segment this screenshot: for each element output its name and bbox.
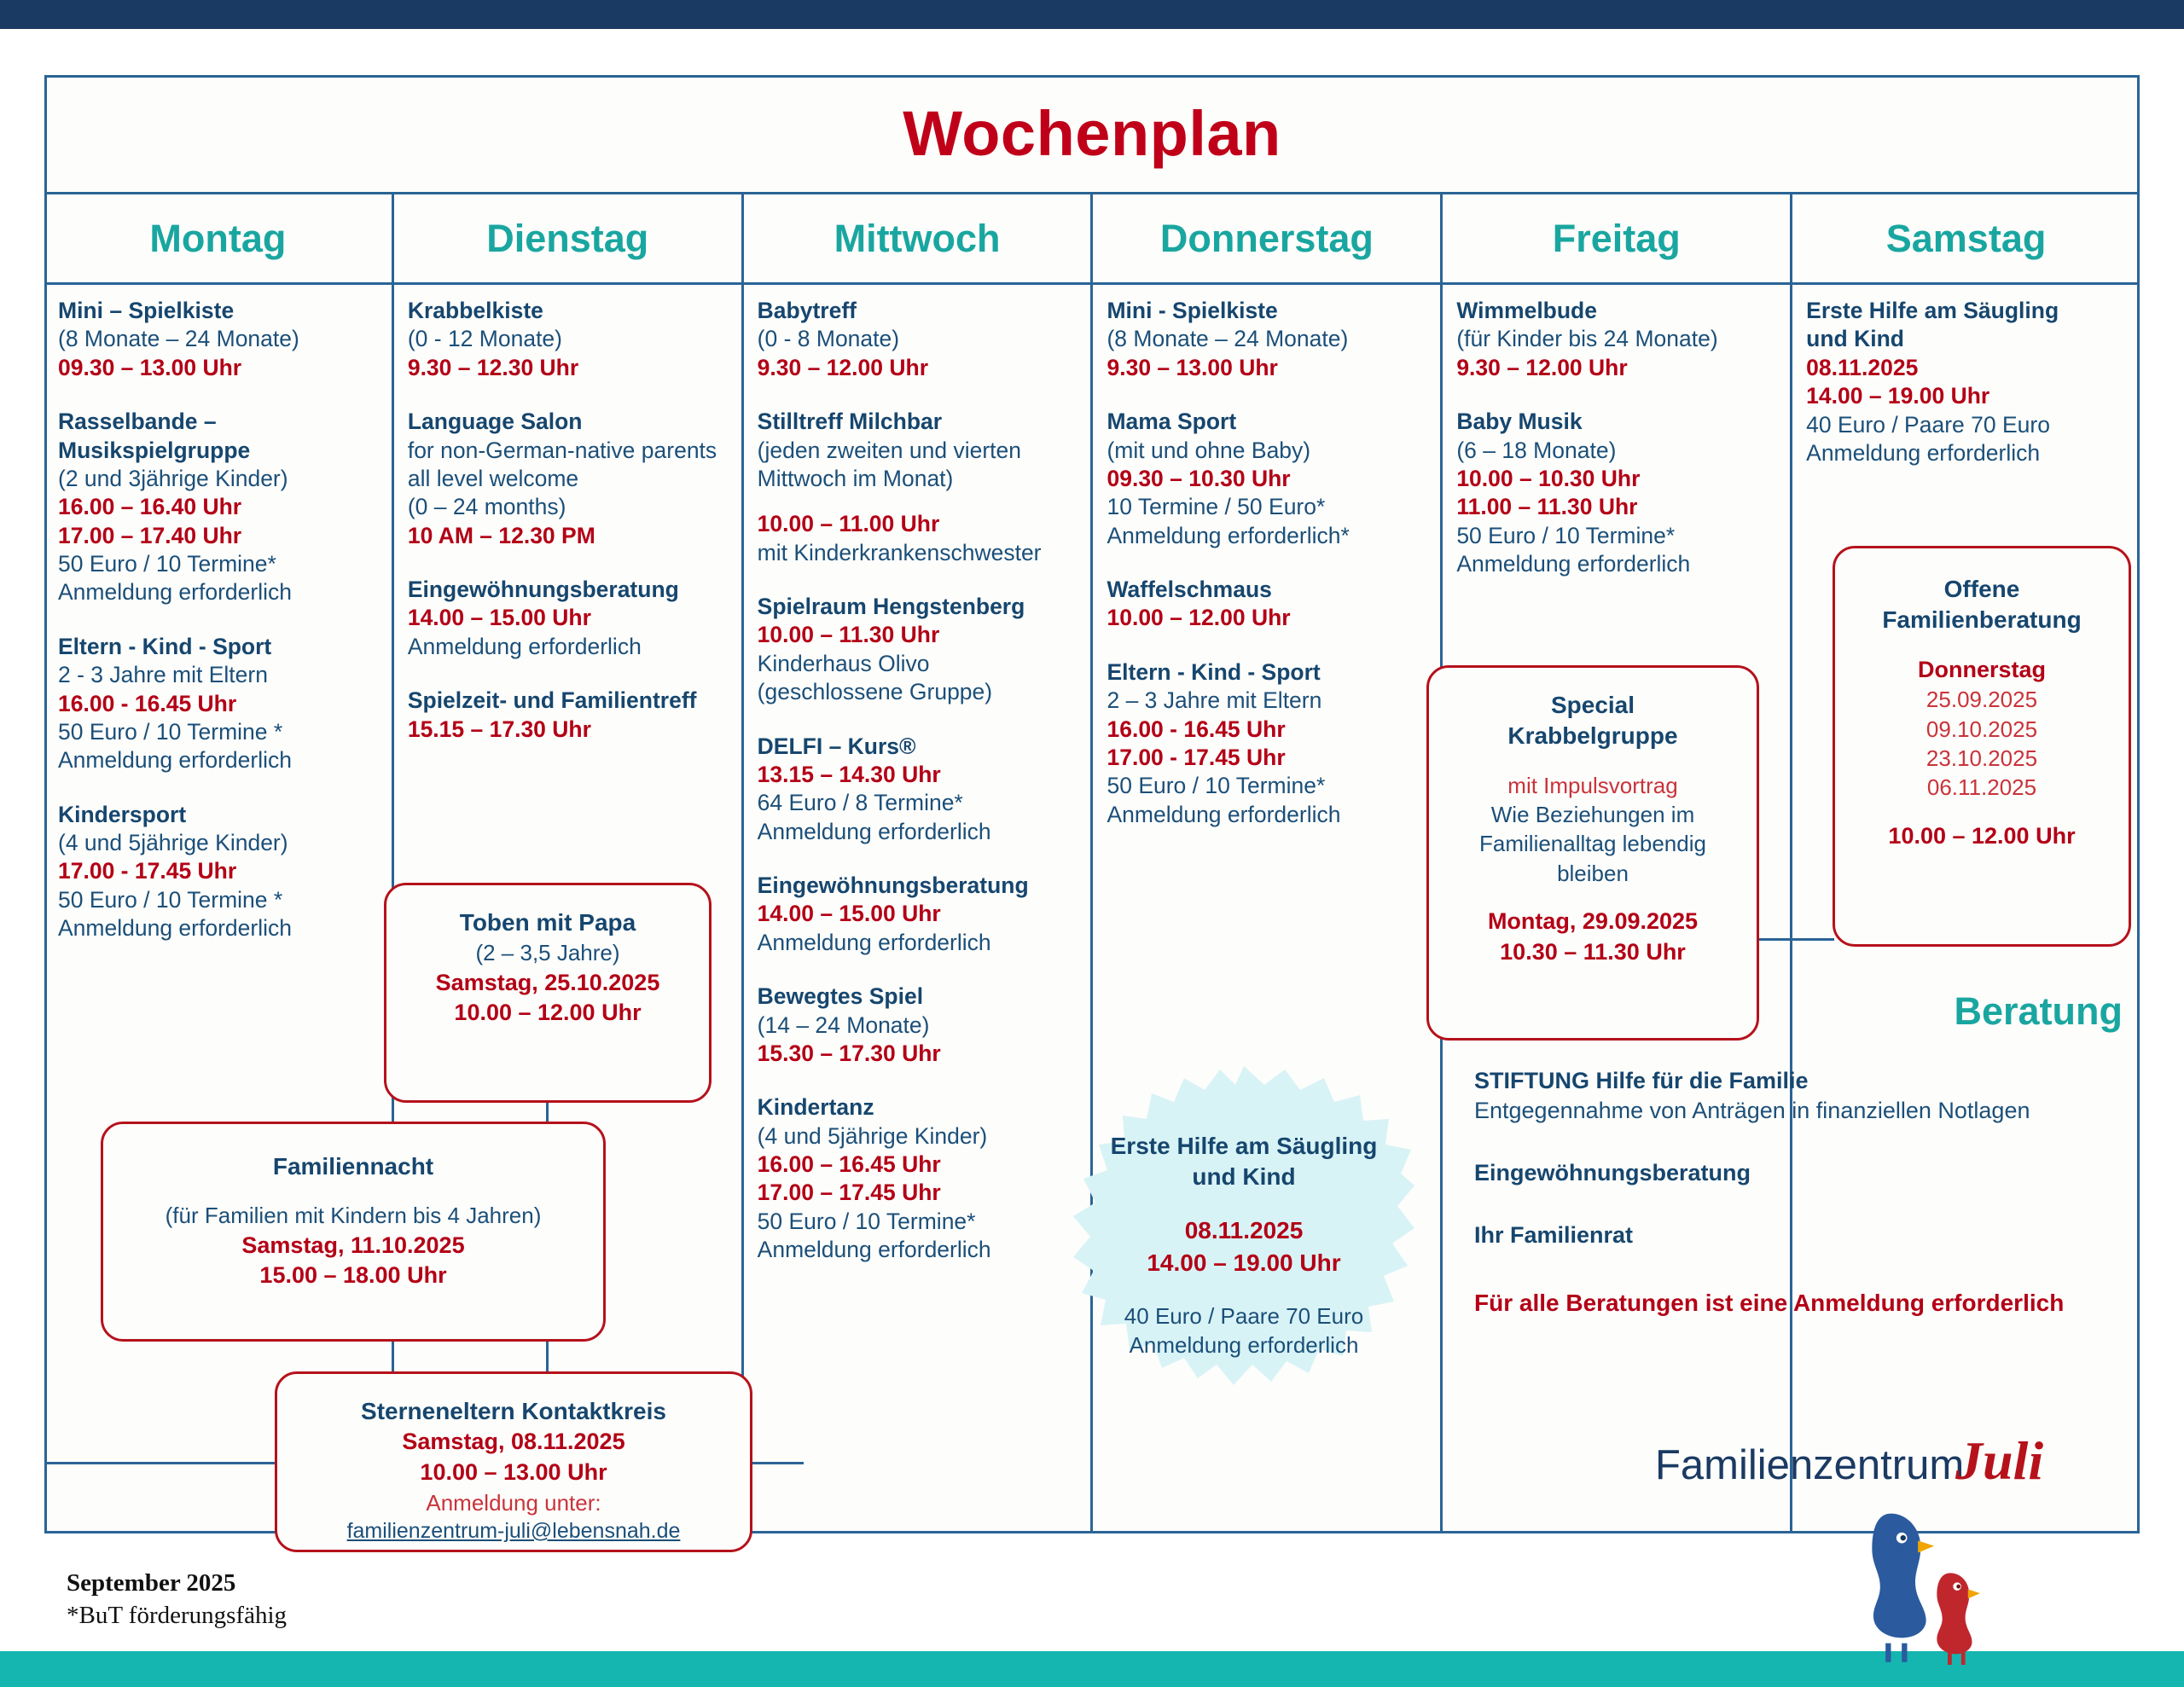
event-entry: Rasselbande –Musikspielgruppe(2 und 3jäh… — [58, 408, 378, 607]
event-title: Eingewöhnungsberatung — [408, 576, 728, 604]
title-band: Wochenplan — [44, 75, 2140, 194]
spacer — [1474, 1188, 2123, 1220]
event-detail: 50 Euro / 10 Termine* — [1107, 772, 1426, 800]
spacer — [758, 493, 1077, 510]
event-detail: (0 - 8 Monate) — [758, 325, 1077, 353]
beratung-item-heading: STIFTUNG Hilfe für die Familie — [1474, 1066, 2123, 1096]
event-entry: Kindersport (4 und 5jährige Kinder)17.00… — [58, 801, 378, 943]
event-entry: Wimmelbude(für Kinder bis 24 Monate)9.30… — [1456, 297, 1776, 382]
event-detail: (mit und ohne Baby) — [1107, 437, 1426, 465]
event-detail: (14 – 24 Monate) — [758, 1012, 1077, 1040]
starburst-erste-hilfe: Erste Hilfe am Säugling und Kind 08.11.2… — [1073, 1066, 1414, 1424]
event-time: 15.15 – 17.30 Uhr — [408, 716, 728, 744]
event-detail: Anmeldung erforderlich — [758, 818, 1077, 846]
burst-heading-line1: Erste Hilfe am Säugling — [1111, 1131, 1378, 1162]
event-detail: Anmeldung erforderlich* — [1107, 522, 1426, 550]
event-detail: Anmeldung erforderlich — [758, 929, 1077, 957]
event-detail: 50 Euro / 10 Termine * — [58, 718, 378, 746]
event-title: Babytreff — [758, 297, 1077, 325]
callout-special-krabbelgruppe: Special Krabbelgruppe mit Impulsvortrag … — [1426, 665, 1759, 1041]
event-title: Eltern - Kind - Sport — [1107, 658, 1426, 687]
callout-time: 15.00 – 18.00 Uhr — [119, 1261, 588, 1291]
event-time: 9.30 – 12.00 Uhr — [758, 354, 1077, 382]
event-detail: 2 - 3 Jahre mit Eltern — [58, 661, 378, 689]
callout-subtitle: (für Familien mit Kindern bis 4 Jahren) — [119, 1201, 588, 1230]
day-header-donnerstag: Donnerstag — [1093, 194, 1443, 282]
event-time: 9.30 – 12.30 Uhr — [408, 354, 728, 382]
event-detail: Anmeldung erforderlich — [1456, 550, 1776, 578]
event-time: 15.30 – 17.30 Uhr — [758, 1040, 1077, 1068]
event-time: 09.30 – 13.00 Uhr — [58, 354, 378, 382]
connector-famnacht — [546, 1342, 549, 1374]
event-title: DELFI – Kurs® — [758, 733, 1077, 761]
callout-day: Donnerstag — [1847, 655, 2117, 686]
event-title: Krabbelkiste — [408, 297, 728, 325]
event-detail: (0 – 24 months) — [408, 493, 728, 521]
day-label: Montag — [149, 217, 286, 261]
event-time: 09.30 – 10.30 Uhr — [1107, 465, 1426, 493]
callout-sterneneltern-kontaktkreis: Sterneneltern Kontaktkreis Samstag, 08.1… — [275, 1371, 752, 1552]
event-entry: Kindertanz(4 und 5jährige Kinder)16.00 –… — [758, 1093, 1077, 1264]
callout-heading: Sterneneltern Kontaktkreis — [291, 1396, 736, 1427]
callout-date-4: 06.11.2025 — [1847, 773, 2117, 802]
callout-email-link[interactable]: familienzentrum-juli@lebensnah.de — [291, 1517, 736, 1545]
callout-familiennacht: Familiennacht (für Familien mit Kindern … — [101, 1122, 606, 1342]
bird-icon — [1834, 1503, 1996, 1665]
callout-date-2: 09.10.2025 — [1847, 715, 2117, 744]
event-detail: (geschlossene Gruppe) — [758, 678, 1077, 706]
event-detail: (2 und 3jährige Kinder) — [58, 465, 378, 493]
event-time: 13.15 – 14.30 Uhr — [758, 761, 1077, 789]
event-entry: Krabbelkiste(0 - 12 Monate)9.30 – 12.30 … — [408, 297, 728, 382]
spacer — [1847, 803, 2117, 821]
event-time: 9.30 – 13.00 Uhr — [1107, 354, 1426, 382]
callout-accent: mit Impulsvortrag — [1443, 771, 1743, 800]
column-mittwoch: Babytreff(0 - 8 Monate)9.30 – 12.00 UhrS… — [744, 285, 1094, 1533]
spacer — [1847, 636, 2117, 655]
event-detail: (für Kinder bis 24 Monate) — [1456, 325, 1776, 353]
day-header-samstag: Samstag — [1792, 194, 2140, 282]
callout-body-line1: Wie Beziehungen im — [1443, 800, 1743, 829]
event-detail: (jeden zweiten und vierten — [758, 437, 1077, 465]
event-time: 14.00 – 19.00 Uhr — [1806, 382, 2126, 410]
event-detail: Anmeldung erforderlich — [58, 914, 378, 942]
callout-toben-mit-papa: Toben mit Papa (2 – 3,5 Jahre) Samstag, … — [384, 883, 712, 1103]
event-time: 17.00 - 17.45 Uhr — [58, 857, 378, 885]
starburst-content: Erste Hilfe am Säugling und Kind 08.11.2… — [1073, 1066, 1414, 1424]
day-label: Freitag — [1553, 217, 1681, 261]
beratung-item: Ihr Familienrat — [1474, 1220, 2123, 1250]
connector-sternen-left — [44, 1462, 276, 1464]
event-title: Mini - Spielkiste — [1107, 297, 1426, 325]
event-entry: Mini - Spielkiste(8 Monate – 24 Monate)9… — [1107, 297, 1426, 382]
event-detail: mit Kinderkrankenschwester — [758, 539, 1077, 567]
event-entry: Eltern - Kind - Sport2 - 3 Jahre mit Elt… — [58, 633, 378, 775]
callout-heading-line2: Familienberatung — [1847, 605, 2117, 635]
event-detail: 50 Euro / 10 Termine* — [58, 550, 378, 578]
event-detail: Anmeldung erforderlich — [1107, 801, 1426, 829]
event-time: 16.00 – 16.40 Uhr — [58, 493, 378, 521]
event-detail: Mittwoch im Monat) — [758, 465, 1077, 493]
event-time: 10.00 – 11.00 Uhr — [758, 510, 1077, 538]
event-title: Bewegtes Spiel — [758, 983, 1077, 1011]
event-detail: (6 – 18 Monate) — [1456, 437, 1776, 465]
event-title: Wimmelbude — [1456, 297, 1776, 325]
callout-date: Samstag, 25.10.2025 — [398, 968, 697, 999]
event-time: 11.00 – 11.30 Uhr — [1456, 493, 1776, 521]
callout-heading-line1: Offene — [1847, 574, 2117, 605]
event-time: 10.00 – 12.00 Uhr — [1107, 604, 1426, 632]
callout-heading-line2: Krabbelgruppe — [1443, 721, 1743, 751]
event-title: Eingewöhnungsberatung — [758, 872, 1077, 900]
event-detail: 50 Euro / 10 Termine* — [1456, 522, 1776, 550]
event-entry: Mama Sport(mit und ohne Baby)09.30 – 10.… — [1107, 408, 1426, 550]
event-detail: Anmeldung erforderlich — [408, 633, 728, 661]
callout-time: 10.00 – 12.00 Uhr — [1847, 821, 2117, 852]
event-detail: Anmeldung erforderlich — [58, 746, 378, 774]
callout-heading-line1: Special — [1443, 690, 1743, 721]
event-entry: Spielzeit- und Familientreff15.15 – 17.3… — [408, 687, 728, 744]
day-header-freitag: Freitag — [1443, 194, 1792, 282]
burst-price: 40 Euro / Paare 70 Euro — [1124, 1301, 1363, 1330]
callout-body-line3: bleiben — [1443, 859, 1743, 888]
event-time: 14.00 – 15.00 Uhr — [758, 900, 1077, 928]
event-title-line2: und Kind — [1806, 325, 2126, 353]
beratung-item: STIFTUNG Hilfe für die Familie Entgegenn… — [1474, 1066, 2123, 1126]
event-detail: (8 Monate – 24 Monate) — [58, 325, 378, 353]
event-detail: 2 – 3 Jahre mit Eltern — [1107, 687, 1426, 715]
event-title: Mini – Spielkiste — [58, 297, 378, 325]
event-entry: Baby Musik(6 – 18 Monate)10.00 – 10.30 U… — [1456, 408, 1776, 578]
event-detail: 50 Euro / 10 Termine* — [758, 1208, 1077, 1236]
event-detail: (0 - 12 Monate) — [408, 325, 728, 353]
event-detail: 10 Termine / 50 Euro* — [1107, 493, 1426, 521]
callout-date-3: 23.10.2025 — [1847, 744, 2117, 773]
footer-note: *BuT förderungsfähig — [67, 1600, 287, 1632]
event-title: Spielraum Hengstenberg — [758, 593, 1077, 621]
event-title: Mama Sport — [1107, 408, 1426, 436]
logo: Familienzentrum Juli — [1655, 1441, 2099, 1663]
event-entry: Waffelschmaus10.00 – 12.00 Uhr — [1107, 576, 1426, 633]
event-time: 10.00 – 11.30 Uhr — [758, 621, 1077, 649]
connector-sternen-right — [751, 1462, 804, 1464]
event-title: Eltern - Kind - Sport — [58, 633, 378, 661]
event-entry: Language Salonfor non-German-native pare… — [408, 408, 728, 550]
event-time: 16.00 – 16.45 Uhr — [758, 1151, 1077, 1179]
footer: September 2025 *BuT förderungsfähig — [67, 1568, 287, 1632]
event-entry: Spielraum Hengstenberg10.00 – 11.30 UhrK… — [758, 593, 1077, 707]
beratung-item-heading: Eingewöhnungsberatung — [1474, 1158, 2123, 1188]
callout-time: 10.30 – 11.30 Uhr — [1443, 937, 1743, 968]
event-title: Kindersport — [58, 801, 378, 829]
connector-special — [1757, 938, 1834, 941]
spacer — [119, 1182, 588, 1201]
day-header-montag: Montag — [44, 194, 394, 282]
callout-date: Montag, 29.09.2025 — [1443, 907, 1743, 937]
event-entry: Eingewöhnungsberatung14.00 – 15.00 UhrAn… — [758, 872, 1077, 957]
burst-date: 08.11.2025 — [1185, 1215, 1304, 1247]
event-time: 17.00 - 17.45 Uhr — [1107, 744, 1426, 772]
event-detail: Anmeldung erforderlich — [758, 1236, 1077, 1264]
event-title-line2: Musikspielgruppe — [58, 437, 378, 465]
event-detail: Anmeldung erforderlich — [1806, 439, 2126, 467]
day-label: Mittwoch — [834, 217, 1001, 261]
event-detail: 40 Euro / Paare 70 Euro — [1806, 411, 2126, 439]
event-entry: DELFI – Kurs®13.15 – 14.30 Uhr64 Euro / … — [758, 733, 1077, 847]
event-detail: all level welcome — [408, 465, 728, 493]
callout-body-line2: Familienalltag lebendig — [1443, 829, 1743, 858]
connector-toben — [546, 1103, 549, 1123]
event-detail: 64 Euro / 8 Termine* — [758, 789, 1077, 817]
event-title: Language Salon — [408, 408, 728, 436]
footer-month: September 2025 — [67, 1568, 287, 1600]
callout-subtitle: (2 – 3,5 Jahre) — [398, 938, 697, 967]
event-detail: (4 und 5jährige Kinder) — [758, 1122, 1077, 1151]
burst-heading-line2: und Kind — [1192, 1162, 1295, 1192]
callout-offene-familienberatung: Offene Familienberatung Donnerstag 25.09… — [1833, 546, 2131, 947]
event-detail: Anmeldung erforderlich — [58, 578, 378, 606]
event-time: 17.00 – 17.40 Uhr — [58, 522, 378, 550]
event-title: Erste Hilfe am Säugling — [1806, 297, 2126, 325]
event-detail: Kinderhaus Olivo — [758, 650, 1077, 678]
beratung-item-heading: Ihr Familienrat — [1474, 1220, 2123, 1250]
event-title: Stilltreff Milchbar — [758, 408, 1077, 436]
event-detail: (8 Monate – 24 Monate) — [1107, 325, 1426, 353]
event-time: 10.00 – 10.30 Uhr — [1456, 465, 1776, 493]
beratung-item: Eingewöhnungsberatung — [1474, 1158, 2123, 1188]
callout-note: Anmeldung unter: — [291, 1488, 736, 1517]
callout-heading: Toben mit Papa — [398, 907, 697, 938]
spacer — [1443, 888, 1743, 907]
event-time: 10 AM – 12.30 PM — [408, 522, 728, 550]
event-entry: Babytreff(0 - 8 Monate)9.30 – 12.00 Uhr — [758, 297, 1077, 382]
logo-script: Juli — [1955, 1429, 2043, 1493]
callout-time: 10.00 – 13.00 Uhr — [291, 1458, 736, 1488]
callout-heading: Familiennacht — [119, 1151, 588, 1182]
burst-note: Anmeldung erforderlich — [1130, 1330, 1359, 1359]
event-title: Kindertanz — [758, 1093, 1077, 1122]
event-entry: Bewegtes Spiel(14 – 24 Monate)15.30 – 17… — [758, 983, 1077, 1068]
event-time: 16.00 - 16.45 Uhr — [1107, 716, 1426, 744]
spacer — [1443, 752, 1743, 771]
callout-date: Samstag, 11.10.2025 — [119, 1231, 588, 1261]
logo-wordmark: Familienzentrum — [1655, 1441, 1964, 1489]
callout-time: 10.00 – 12.00 Uhr — [398, 998, 697, 1029]
event-title: Baby Musik — [1456, 408, 1776, 436]
callout-date: Samstag, 08.11.2025 — [291, 1427, 736, 1458]
day-header-mittwoch: Mittwoch — [744, 194, 1094, 282]
day-header-row: Montag Dienstag Mittwoch Donnerstag Frei… — [44, 194, 2140, 285]
day-label: Dienstag — [486, 217, 648, 261]
event-time: 14.00 – 15.00 Uhr — [408, 604, 728, 632]
event-title: Spielzeit- und Familientreff — [408, 687, 728, 715]
day-header-dienstag: Dienstag — [394, 194, 744, 282]
event-time: 9.30 – 12.00 Uhr — [1456, 354, 1776, 382]
event-entry: Eingewöhnungsberatung14.00 – 15.00 UhrAn… — [408, 576, 728, 661]
event-detail: for non-German-native parents — [408, 437, 728, 465]
event-title: Rasselbande – — [58, 408, 378, 436]
event-detail: (4 und 5jährige Kinder) — [58, 829, 378, 857]
day-label: Donnerstag — [1160, 217, 1374, 261]
event-title: Waffelschmaus — [1107, 576, 1426, 604]
event-time: 16.00 - 16.45 Uhr — [58, 690, 378, 718]
event-entry: Erste Hilfe am Säuglingund Kind08.11.202… — [1806, 297, 2126, 467]
day-label: Samstag — [1886, 217, 2047, 261]
page-title: Wochenplan — [903, 97, 1281, 170]
burst-time: 14.00 – 19.00 Uhr — [1147, 1247, 1340, 1279]
event-entry: Stilltreff Milchbar(jeden zweiten und vi… — [758, 408, 1077, 567]
page-top-band — [0, 0, 2184, 29]
beratung-final-note: Für alle Beratungen ist eine Anmeldung e… — [1474, 1288, 2123, 1319]
column-montag: Mini – Spielkiste(8 Monate – 24 Monate)0… — [44, 285, 394, 1533]
spacer — [1474, 1126, 2123, 1158]
event-entry: Eltern - Kind - Sport2 – 3 Jahre mit Elt… — [1107, 658, 1426, 829]
event-time: 17.00 – 17.45 Uhr — [758, 1179, 1077, 1207]
event-entry: Mini – Spielkiste(8 Monate – 24 Monate)0… — [58, 297, 378, 382]
event-time: 08.11.2025 — [1806, 354, 2126, 382]
callout-date-1: 25.09.2025 — [1847, 685, 2117, 714]
event-detail: 50 Euro / 10 Termine * — [58, 886, 378, 914]
beratung-item-desc: Entgegennahme von Anträgen in finanziell… — [1474, 1096, 2123, 1126]
